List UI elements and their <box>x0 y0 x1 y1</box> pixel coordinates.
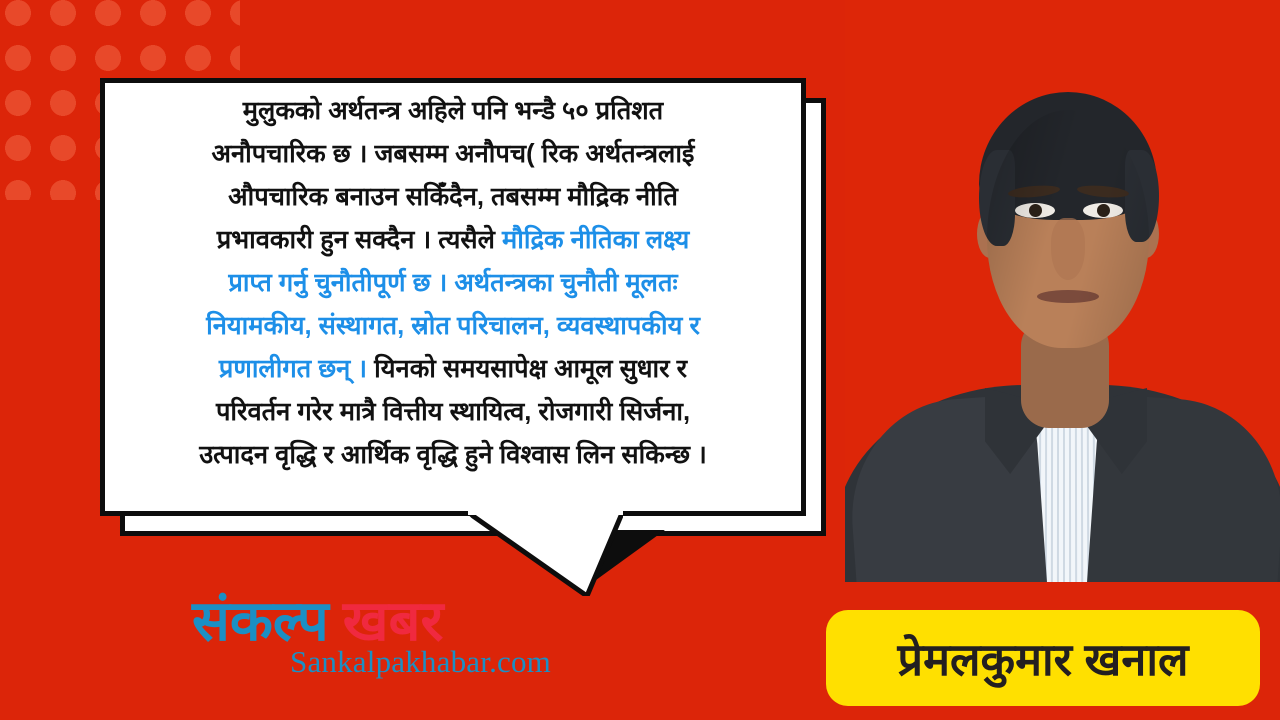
quote-line: प्राप्त गर्नु चुनौतीपूर्ण छ । अर्थतन्त्र… <box>228 262 677 305</box>
speech-bubble-tail <box>468 511 623 596</box>
quote-line: अनौपचारिक छ । जबसम्म अनौपच( रिक अर्थतन्त… <box>212 133 695 176</box>
quote-segment-blue: प्रणालीगत छन् । <box>219 355 367 383</box>
quote-line: मुलुकको अर्थतन्त्र अहिले पनि भन्डै ५० प्… <box>243 90 663 133</box>
quote-line: उत्पादन वृद्धि र आर्थिक वृद्धि हुने विश्… <box>199 434 707 477</box>
logo-word-khabar: खबर <box>343 589 444 652</box>
logo-word-sankalpa: संकल्प <box>192 589 329 652</box>
news-quote-graphic: मुलुकको अर्थतन्त्र अहिले पनि भन्डै ५० प्… <box>0 0 1280 720</box>
logo-domain-text: Sankalpakhabar.com <box>290 644 551 680</box>
site-logo[interactable]: संकल्पखबर Sankalpakhabar.com <box>192 588 572 692</box>
quote-line: नियामकीय, संस्थागत, स्रोत परिचालन, व्यवस… <box>206 305 700 348</box>
quote-text-block: मुलुकको अर्थतन्त्र अहिले पनि भन्डै ५० प्… <box>112 84 794 504</box>
quote-line: प्रणालीगत छन् । यिनको समयसापेक्ष आमूल सु… <box>219 348 687 391</box>
quote-segment-black: प्रभावकारी हुन सक्दैन । त्यसैले <box>217 226 502 254</box>
quote-line: प्रभावकारी हुन सक्दैन । त्यसैले मौद्रिक … <box>217 219 690 262</box>
quote-line: औपचारिक बनाउन सकिँदैन, तबसम्म मौद्रिक नी… <box>228 176 678 219</box>
speaker-name-banner: प्रेमलकुमार खनाल <box>826 610 1260 706</box>
speaker-name: प्रेमलकुमार खनाल <box>897 628 1188 689</box>
quote-segment-black: यिनको समयसापेक्ष आमूल सुधार र <box>367 355 687 383</box>
portrait-photo <box>845 0 1280 582</box>
quote-line: परिवर्तन गरेर मात्रै वित्तीय स्थायित्व, … <box>216 391 690 434</box>
quote-segment-blue: मौद्रिक नीतिका लक्ष्य <box>502 226 689 254</box>
